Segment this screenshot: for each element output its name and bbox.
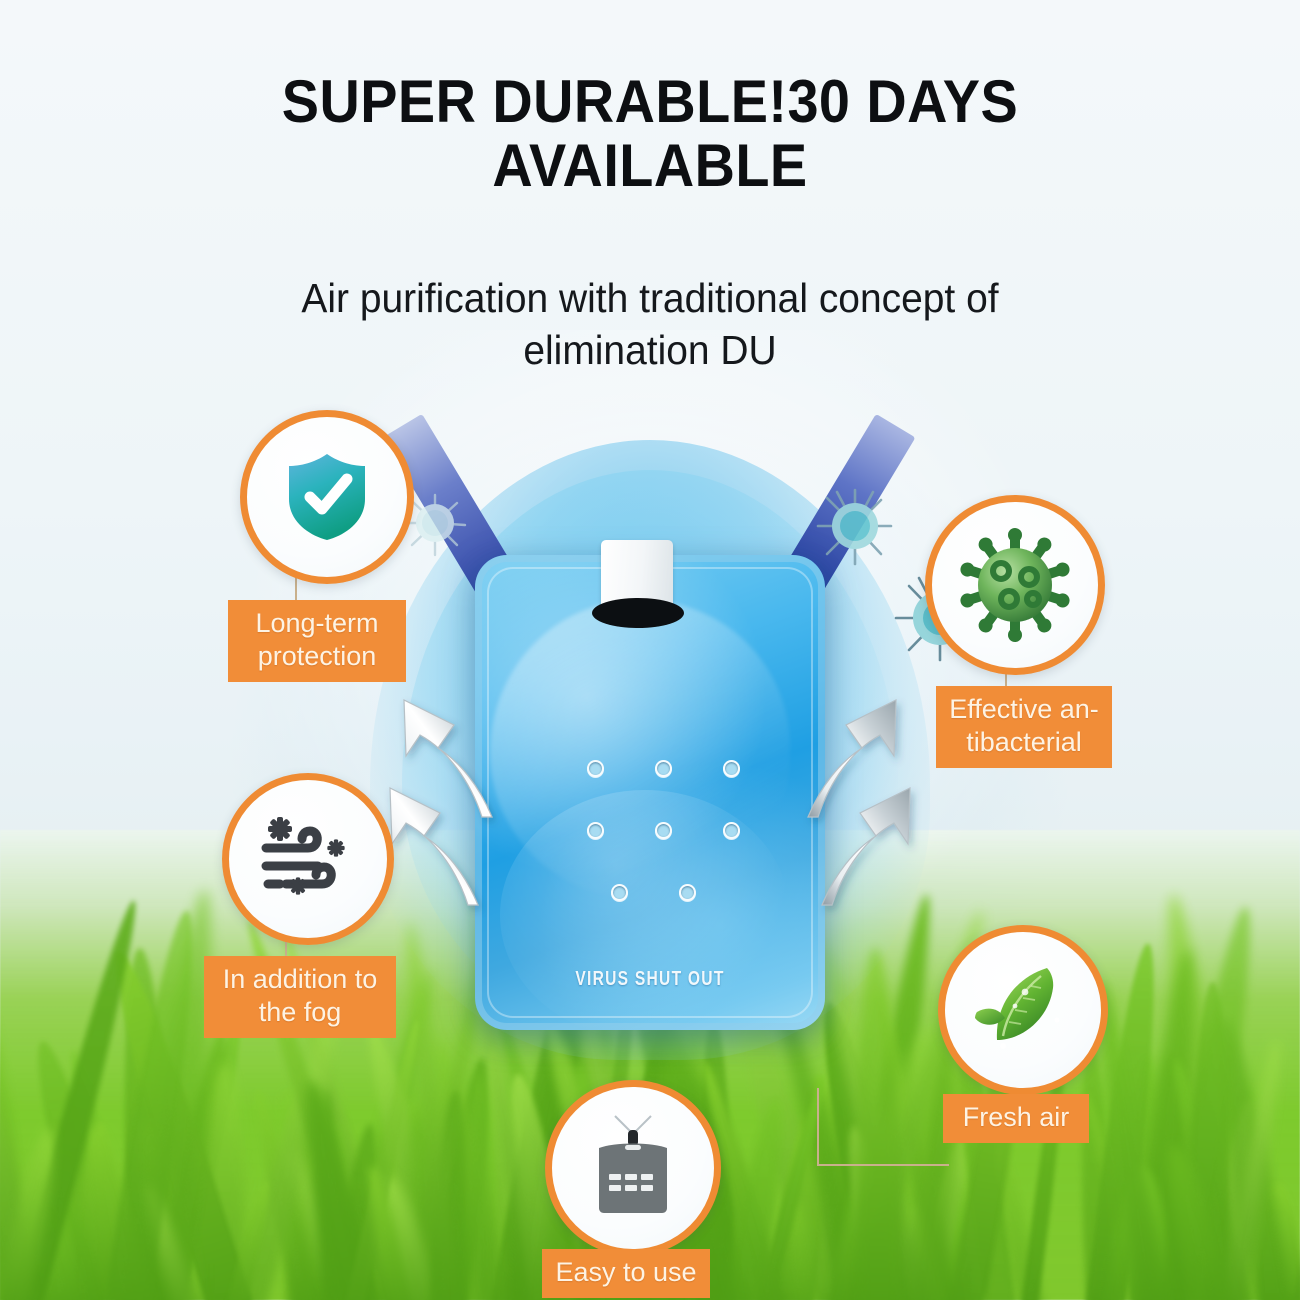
feature-label-line1: Long-term [240, 607, 394, 640]
feature-circle-effective-antibacterial[interactable] [925, 495, 1105, 675]
feature-label-line2: protection [240, 640, 394, 673]
card-vent-hole [611, 884, 628, 901]
feature-label-easy-to-use[interactable]: Easy to use [542, 1249, 710, 1298]
card-vent-hole [723, 822, 740, 839]
card-vent-hole [587, 822, 604, 839]
card-vent-hole [655, 760, 672, 777]
page-subtitle-line1: Air purification with traditional concep… [33, 272, 1268, 324]
feature-circle-long-term-protection[interactable] [240, 410, 414, 584]
page-title-line1: SUPER DURABLE!30 DAYS [46, 70, 1255, 134]
feature-label-effective-antibacterial[interactable]: Effective an- tibacterial [936, 686, 1112, 768]
feature-circle-easy-to-use[interactable] [545, 1080, 721, 1256]
feature-label-line2: the fog [216, 996, 384, 1029]
feature-label-fresh-air[interactable]: Fresh air [943, 1094, 1089, 1143]
leaf-icon [969, 962, 1077, 1058]
card-vent-holes [555, 760, 755, 920]
infographic-canvas: SUPER DURABLE!30 DAYS AVAILABLE Air puri… [0, 0, 1300, 1300]
page-subtitle-line2: elimination DU [33, 324, 1268, 376]
feature-label-line1: Effective an- [948, 693, 1100, 726]
feature-label-long-term-protection[interactable]: Long-term protection [228, 600, 406, 682]
card-vent-hole [723, 760, 740, 777]
page-title: SUPER DURABLE!30 DAYS AVAILABLE [46, 70, 1255, 198]
page-subtitle: Air purification with traditional concep… [33, 272, 1268, 376]
card-brand-text: VIRUS SHUT OUT [514, 968, 787, 991]
feature-circle-fresh-air[interactable] [938, 925, 1108, 1095]
feature-label-line1: In addition to [216, 963, 384, 996]
connector-vertical-fresh-air [817, 1088, 819, 1166]
card-vent-hole [587, 760, 604, 777]
shield-check-icon [284, 451, 370, 543]
feature-label-line2: tibacterial [948, 726, 1100, 759]
card-slot [592, 598, 684, 628]
grass-blade [853, 948, 902, 1300]
card-vent-hole [655, 822, 672, 839]
card-vent-hole [679, 884, 696, 901]
feature-label-in-addition-to-the-fog[interactable]: In addition to the fog [204, 956, 396, 1038]
feature-label-line1: Fresh air [955, 1101, 1077, 1134]
page-title-line2: AVAILABLE [46, 134, 1255, 198]
badge-card-icon [579, 1112, 687, 1224]
wind-fog-icon [256, 813, 360, 905]
virus-icon [957, 527, 1073, 643]
feature-label-line1: Easy to use [554, 1256, 698, 1289]
connector-horizontal-fresh-air [817, 1164, 949, 1166]
feature-circle-in-addition-to-the-fog[interactable] [222, 773, 394, 945]
